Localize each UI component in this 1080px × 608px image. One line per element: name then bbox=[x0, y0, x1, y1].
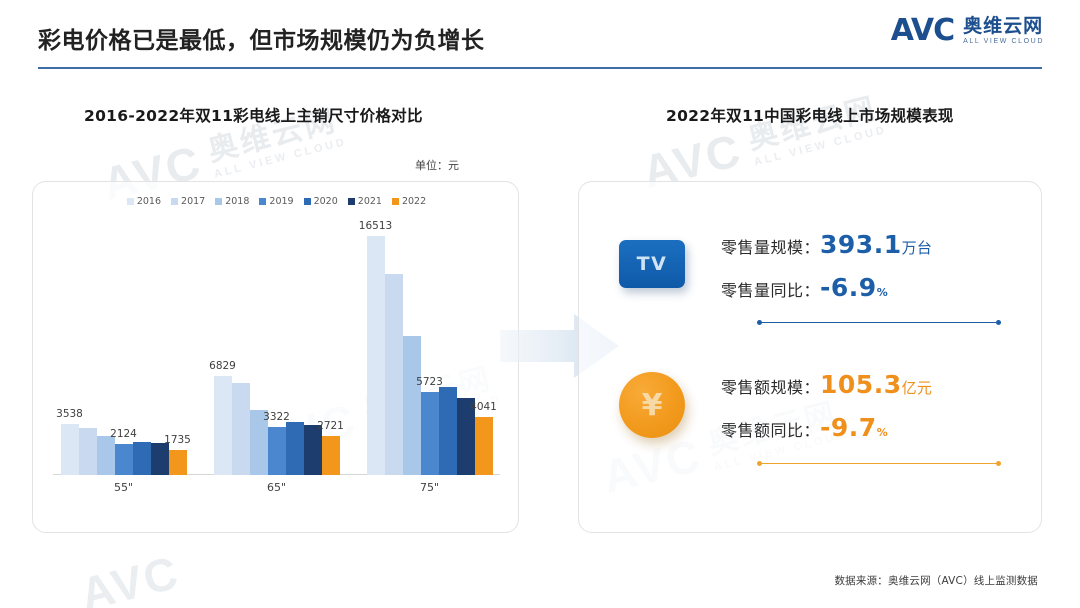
legend-swatch-icon bbox=[348, 198, 355, 205]
page-title: 彩电价格已是最低，但市场规模仍为负增长 bbox=[38, 21, 485, 55]
legend-item-2021[interactable]: 2021 bbox=[348, 196, 382, 207]
bar-2018[interactable] bbox=[250, 236, 268, 475]
bar-2021[interactable] bbox=[457, 236, 475, 475]
legend-item-2017[interactable]: 2017 bbox=[171, 196, 205, 207]
slide-header: 彩电价格已是最低，但市场规模仍为负增长 AVC 奥维云网 ALL VIEW CL… bbox=[0, 0, 1080, 72]
legend-label: 2020 bbox=[314, 196, 338, 207]
metric-yoy-value: -6.9 bbox=[820, 273, 877, 302]
bar-rect bbox=[322, 436, 340, 475]
right-panel-title: 2022年双11中国彩电线上市场规模表现 bbox=[666, 104, 954, 126]
legend-swatch-icon bbox=[304, 198, 311, 205]
metric-size-unit: 亿元 bbox=[902, 377, 933, 398]
bar-rect bbox=[133, 442, 151, 475]
metric-size-value: 393.1 bbox=[820, 230, 902, 259]
logo-en-text: ALL VIEW CLOUD bbox=[963, 38, 1044, 45]
legend-label: 2016 bbox=[137, 196, 161, 207]
bar-chart-card: 2016201720182019202020212022 35382124173… bbox=[32, 181, 519, 533]
category-label: 65" bbox=[200, 481, 353, 494]
metric-yoy-row: 零售额同比： -9.7 % bbox=[721, 413, 932, 442]
bar-value-label: 4041 bbox=[470, 401, 497, 413]
legend-label: 2017 bbox=[181, 196, 205, 207]
bar-group-55in: 353821241735 bbox=[61, 236, 187, 475]
bar-2016[interactable]: 16513 bbox=[367, 236, 385, 475]
bar-rect bbox=[214, 376, 232, 475]
watermark-mark: AVC bbox=[76, 549, 184, 608]
avc-logo: AVC 奥维云网 ALL VIEW CLOUD bbox=[891, 16, 1044, 46]
legend-label: 2022 bbox=[402, 196, 426, 207]
logo-cn-text: 奥维云网 bbox=[963, 17, 1044, 36]
bar-rect bbox=[115, 444, 133, 475]
watermark: AVC bbox=[76, 549, 184, 608]
metric-value-underline bbox=[757, 463, 1001, 464]
metric-yoy-unit: % bbox=[877, 426, 889, 439]
metric-yoy-row: 零售量同比： -6.9 % bbox=[721, 273, 932, 302]
tv-icon: TV bbox=[619, 240, 685, 288]
legend-swatch-icon bbox=[259, 198, 266, 205]
bar-rect bbox=[97, 436, 115, 475]
bar-rect bbox=[61, 424, 79, 475]
bar-rect bbox=[79, 428, 97, 475]
metric-size-key: 零售额规模： bbox=[721, 374, 820, 398]
category-label: 55" bbox=[47, 481, 200, 494]
bar-2020[interactable] bbox=[439, 236, 457, 475]
bar-2017[interactable] bbox=[385, 236, 403, 475]
metric-size-value: 105.3 bbox=[820, 370, 902, 399]
bar-rect bbox=[169, 450, 187, 475]
legend-swatch-icon bbox=[171, 198, 178, 205]
legend-swatch-icon bbox=[127, 198, 134, 205]
metric-size-row: 零售额规模： 105.3 亿元 bbox=[721, 370, 932, 399]
bar-group-65in: 682933222721 bbox=[214, 236, 340, 475]
bar-2020[interactable] bbox=[286, 236, 304, 475]
metric-yoy-key: 零售额同比： bbox=[721, 417, 820, 441]
bar-value-label: 2721 bbox=[317, 420, 344, 432]
bar-rect bbox=[403, 336, 421, 475]
metric-size-row: 零售量规模： 393.1 万台 bbox=[721, 230, 932, 259]
bar-2019[interactable]: 2124 bbox=[115, 236, 133, 475]
bar-group-75in: 1651357234041 bbox=[367, 236, 493, 475]
metric-yoy-unit: % bbox=[877, 286, 889, 299]
metric-yoy-value: -9.7 bbox=[820, 413, 877, 442]
legend-item-2022[interactable]: 2022 bbox=[392, 196, 426, 207]
bar-2016[interactable]: 6829 bbox=[214, 236, 232, 475]
watermark-en: ALL VIEW CLOUD bbox=[753, 125, 888, 169]
metric-retail-value: ¥ 零售额规模： 105.3 亿元 零售额同比： -9.7 % bbox=[619, 370, 932, 442]
legend-item-2018[interactable]: 2018 bbox=[215, 196, 249, 207]
legend-item-2016[interactable]: 2016 bbox=[127, 196, 161, 207]
bar-rect bbox=[268, 427, 286, 475]
bar-rect bbox=[421, 392, 439, 475]
bar-rect bbox=[475, 417, 493, 475]
legend-label: 2019 bbox=[269, 196, 293, 207]
left-panel-title: 2016-2022年双11彩电线上主销尺寸价格对比 bbox=[84, 104, 423, 126]
chart-category-labels: 55"65"75" bbox=[47, 477, 506, 497]
bar-rect bbox=[385, 274, 403, 475]
metric-size-unit: 万台 bbox=[902, 237, 933, 258]
legend-swatch-icon bbox=[392, 198, 399, 205]
market-size-card: TV 零售量规模： 393.1 万台 零售量同比： -6.9 % ¥ 零售额规模… bbox=[578, 181, 1042, 533]
watermark-en: ALL VIEW CLOUD bbox=[213, 137, 348, 181]
header-divider bbox=[38, 67, 1042, 69]
logo-mark-text: AVC bbox=[891, 16, 954, 46]
legend-swatch-icon bbox=[215, 198, 222, 205]
legend-label: 2021 bbox=[358, 196, 382, 207]
bar-value-label: 1735 bbox=[164, 434, 191, 446]
bar-value-label: 16513 bbox=[359, 220, 392, 232]
legend-item-2019[interactable]: 2019 bbox=[259, 196, 293, 207]
chart-legend: 2016201720182019202020212022 bbox=[33, 196, 520, 207]
data-source-note: 数据来源：奥维云网（AVC）线上监测数据 bbox=[834, 573, 1038, 588]
legend-item-2020[interactable]: 2020 bbox=[304, 196, 338, 207]
chart-unit-label: 单位：元 bbox=[415, 157, 459, 173]
legend-label: 2018 bbox=[225, 196, 249, 207]
bar-2022[interactable]: 2721 bbox=[322, 236, 340, 475]
metric-volume-underline bbox=[757, 322, 1001, 323]
bar-2017[interactable] bbox=[79, 236, 97, 475]
bar-2020[interactable] bbox=[133, 236, 151, 475]
bar-2016[interactable]: 3538 bbox=[61, 236, 79, 475]
yen-icon: ¥ bbox=[619, 372, 685, 438]
category-label: 75" bbox=[353, 481, 506, 494]
bar-2018[interactable] bbox=[403, 236, 421, 475]
bar-rect bbox=[232, 383, 250, 475]
bar-2017[interactable] bbox=[232, 236, 250, 475]
bar-2019[interactable]: 3322 bbox=[268, 236, 286, 475]
metric-size-key: 零售量规模： bbox=[721, 234, 820, 258]
metric-retail-volume: TV 零售量规模： 393.1 万台 零售量同比： -6.9 % bbox=[619, 230, 932, 302]
bar-rect bbox=[439, 387, 457, 475]
metric-yoy-key: 零售量同比： bbox=[721, 277, 820, 301]
chart-bar-groups: 3538212417356829332227211651357234041 bbox=[47, 236, 506, 475]
bar-rect bbox=[286, 422, 304, 475]
bar-2022[interactable]: 1735 bbox=[169, 236, 187, 475]
bar-2021[interactable] bbox=[304, 236, 322, 475]
bar-2019[interactable]: 5723 bbox=[421, 236, 439, 475]
bar-rect bbox=[151, 443, 169, 475]
bar-rect bbox=[304, 425, 322, 475]
bar-rect bbox=[367, 236, 385, 475]
slide-root: AVC 奥维云网 ALL VIEW CLOUD AVC 奥维云网 ALL VIE… bbox=[0, 0, 1080, 608]
chart-plot-area: 3538212417356829332227211651357234041 55… bbox=[47, 236, 506, 501]
bar-2022[interactable]: 4041 bbox=[475, 236, 493, 475]
